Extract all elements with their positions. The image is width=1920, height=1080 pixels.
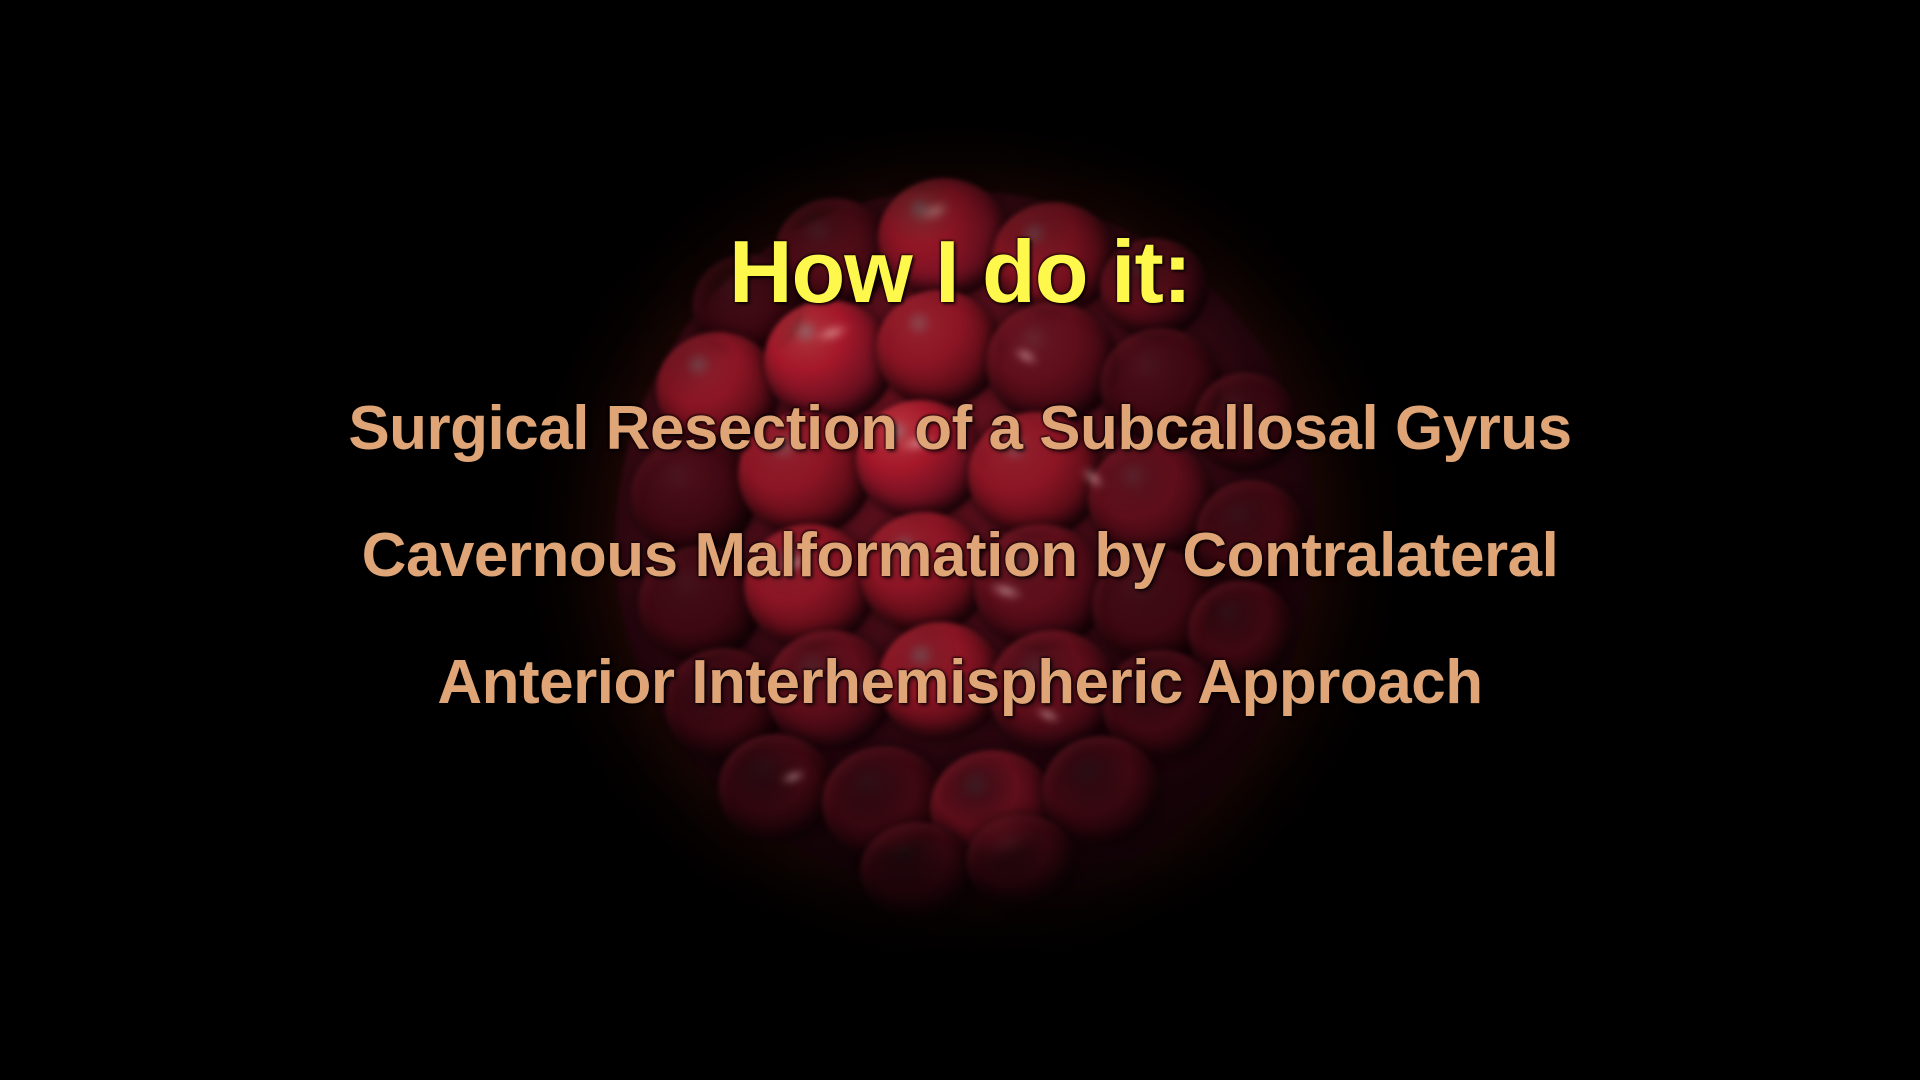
slide-subtitle: Surgical Resection of a Subcallosal Gyru… <box>0 398 1920 714</box>
subtitle-line-2: Cavernous Malformation by Contralateral <box>0 525 1920 587</box>
slide-title: How I do it: <box>0 228 1920 316</box>
title-slide: How I do it: Surgical Resection of a Sub… <box>0 0 1920 1080</box>
subtitle-line-1: Surgical Resection of a Subcallosal Gyru… <box>0 398 1920 460</box>
slide-text-layer: How I do it: Surgical Resection of a Sub… <box>0 0 1920 1080</box>
subtitle-line-3: Anterior Interhemispheric Approach <box>0 652 1920 714</box>
